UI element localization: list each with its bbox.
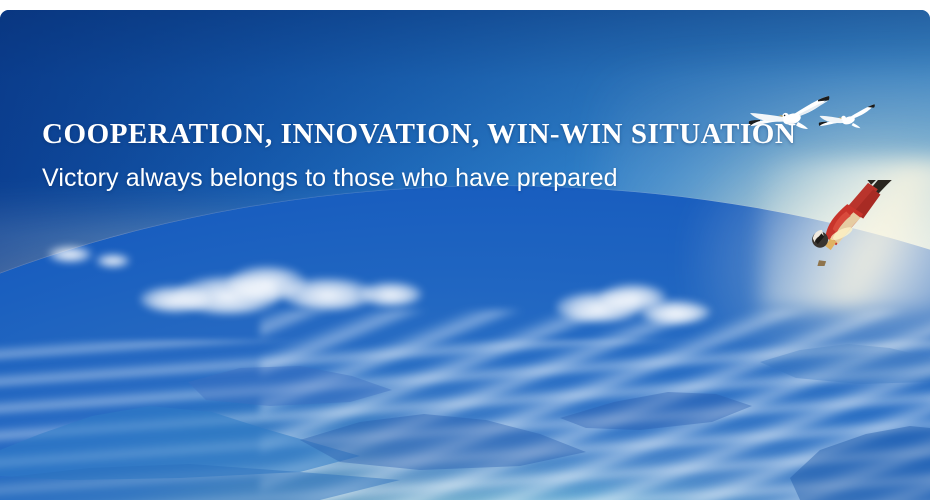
banner-copy: COOPERATION, INNOVATION, WIN-WIN SITUATI… <box>42 118 796 193</box>
seagull-icon <box>818 98 876 138</box>
banner-subheadline: Victory always belongs to those who have… <box>42 163 796 193</box>
hero-banner: COOPERATION, INNOVATION, WIN-WIN SITUATI… <box>0 0 930 500</box>
banner-headline: COOPERATION, INNOVATION, WIN-WIN SITUATI… <box>42 118 796 150</box>
cloud-puff <box>96 254 130 267</box>
cloud-puff <box>360 282 422 306</box>
cloud-puff <box>48 246 92 262</box>
skydiver-icon <box>788 180 916 266</box>
banner-artwork: COOPERATION, INNOVATION, WIN-WIN SITUATI… <box>0 10 930 500</box>
cloud-puff <box>140 286 210 312</box>
